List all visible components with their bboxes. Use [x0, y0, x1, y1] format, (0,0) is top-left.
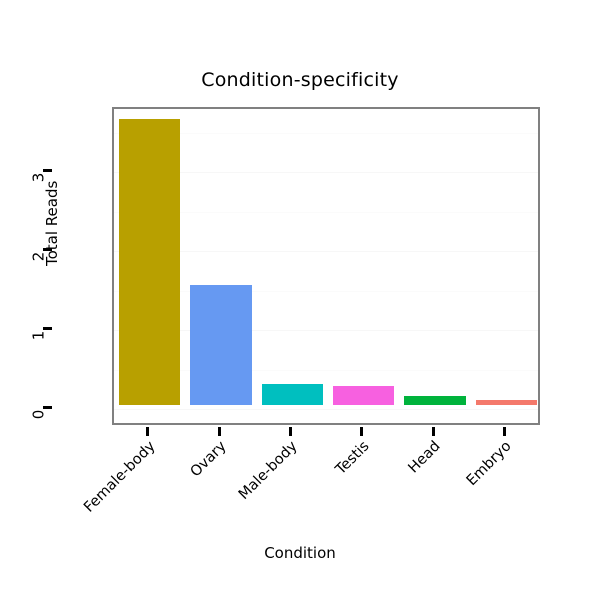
bar-male-body[interactable]	[262, 384, 323, 405]
x-axis-title: Condition	[0, 544, 600, 562]
x-tick-mark	[503, 427, 506, 436]
x-tick-mark	[289, 427, 292, 436]
plot-panel	[112, 107, 540, 425]
x-tick-label: Head	[292, 439, 444, 591]
bar-chart: Condition-specificity Total Reads 0123 C…	[0, 0, 600, 600]
y-tick-label: 2	[32, 249, 47, 265]
x-tick-label: Female-body	[6, 439, 158, 591]
bar-female-body[interactable]	[119, 119, 180, 405]
y-tick-label: 0	[32, 407, 47, 423]
x-tick-mark	[432, 427, 435, 436]
x-axis: Condition Female-bodyOvaryMale-bodyTesti…	[0, 425, 600, 600]
x-tick-label: Male-body	[149, 439, 301, 591]
x-tick-label: Testis	[220, 439, 372, 591]
bar-head[interactable]	[404, 396, 465, 405]
bar-embryo[interactable]	[476, 400, 537, 405]
x-tick-mark	[218, 427, 221, 436]
x-tick-label: Embryo	[363, 439, 515, 591]
x-tick-mark	[360, 427, 363, 436]
x-tick-label: Ovary	[78, 439, 230, 591]
y-tick-label: 3	[32, 170, 47, 186]
bar-testis[interactable]	[333, 386, 394, 405]
y-tick-label: 1	[32, 328, 47, 344]
x-tick-mark	[146, 427, 149, 436]
bar-ovary[interactable]	[190, 285, 251, 405]
bars-layer	[114, 109, 538, 423]
